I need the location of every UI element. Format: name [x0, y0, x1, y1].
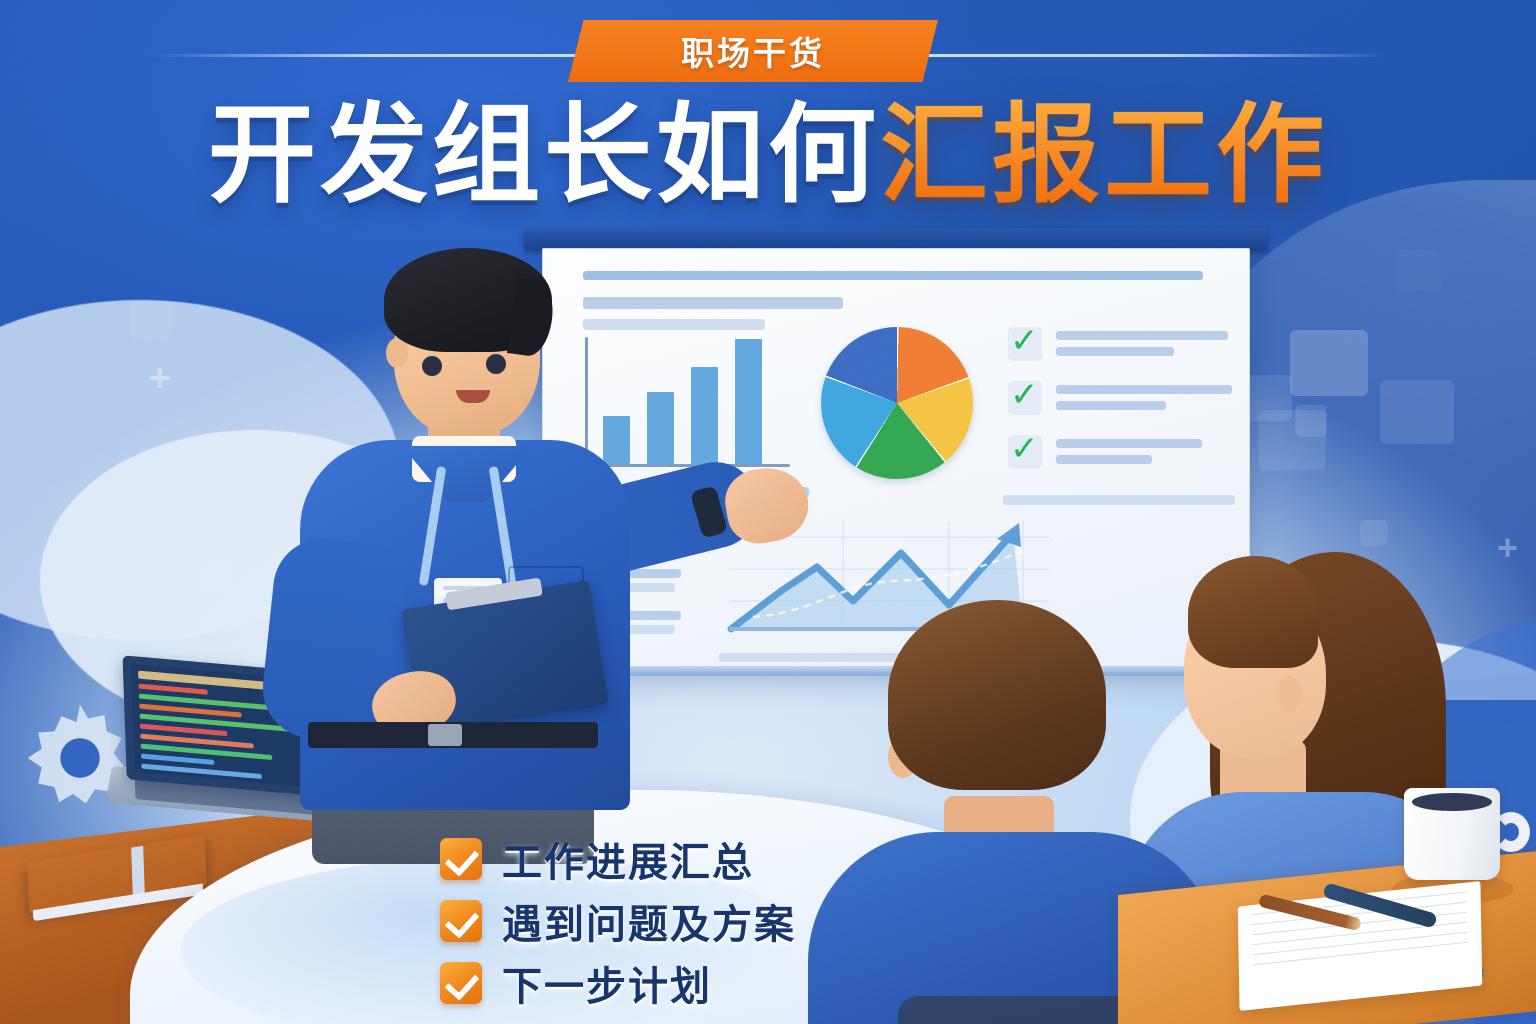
floating-square [1360, 520, 1388, 546]
eye [422, 356, 442, 376]
floating-square [1258, 410, 1326, 470]
slide-checklist-item: ✓ [1008, 435, 1228, 481]
category-ribbon: 职场干货 [568, 20, 938, 82]
page-title: 开发组长如何汇报工作 [0, 96, 1536, 215]
list-item: 遇到问题及方案 [440, 890, 1000, 952]
page-title-white: 开发组长如何 [208, 94, 880, 215]
slide-text-bar [1056, 331, 1228, 340]
checkbox: ✓ [1008, 435, 1042, 469]
key-points-list: 工作进展汇总 遇到问题及方案 下一步计划 [440, 828, 1000, 1014]
list-item: 工作进展汇总 [440, 828, 1000, 890]
orange-check-icon [440, 838, 482, 880]
floating-square [1395, 250, 1441, 290]
list-item-label: 工作进展汇总 [502, 830, 754, 888]
slide-text-bar [1056, 401, 1166, 410]
floating-square [200, 560, 234, 592]
belt-buckle [428, 724, 462, 746]
list-item-label: 遇到问题及方案 [502, 892, 796, 950]
list-item: 下一步计划 [440, 952, 1000, 1014]
coffee-mug [1404, 788, 1500, 880]
floating-square [1290, 330, 1368, 396]
plus-icon: + [148, 358, 171, 398]
poster-canvas: + + + ✓ [0, 0, 1536, 1024]
page-title-orange: 汇报工作 [880, 94, 1328, 215]
presenter-figure [260, 240, 760, 800]
slide-checklist-item: ✓ [1008, 381, 1228, 427]
slide-text-bar [1056, 347, 1174, 356]
code-line [138, 684, 208, 695]
code-line [141, 754, 214, 765]
slide-text-bar [1056, 439, 1202, 448]
checkbox: ✓ [1008, 381, 1042, 415]
orange-check-icon [440, 962, 482, 1004]
floating-square [1380, 380, 1454, 444]
orange-check-icon [440, 900, 482, 942]
ear [1276, 676, 1302, 712]
slide-text-bar [1056, 455, 1152, 464]
notebook-stripe [131, 846, 145, 896]
slide-pie-chart [821, 327, 973, 479]
plus-icon: + [1497, 530, 1518, 566]
code-line [141, 764, 262, 780]
slide-checklist-item: ✓ [1008, 327, 1228, 373]
slide-text-bar [1056, 385, 1232, 394]
eye [486, 354, 506, 374]
coffee-surface [1412, 793, 1492, 811]
floating-square [130, 300, 172, 340]
ribbon-label: 职场干货 [681, 27, 825, 75]
green-check-icon: ✓ [1010, 378, 1039, 412]
green-check-icon: ✓ [1010, 324, 1039, 358]
green-check-icon: ✓ [1010, 432, 1039, 466]
slide-divider-bar [1003, 495, 1235, 505]
hair [888, 600, 1106, 790]
list-item-label: 下一步计划 [502, 954, 712, 1012]
checkbox: ✓ [1008, 327, 1042, 361]
